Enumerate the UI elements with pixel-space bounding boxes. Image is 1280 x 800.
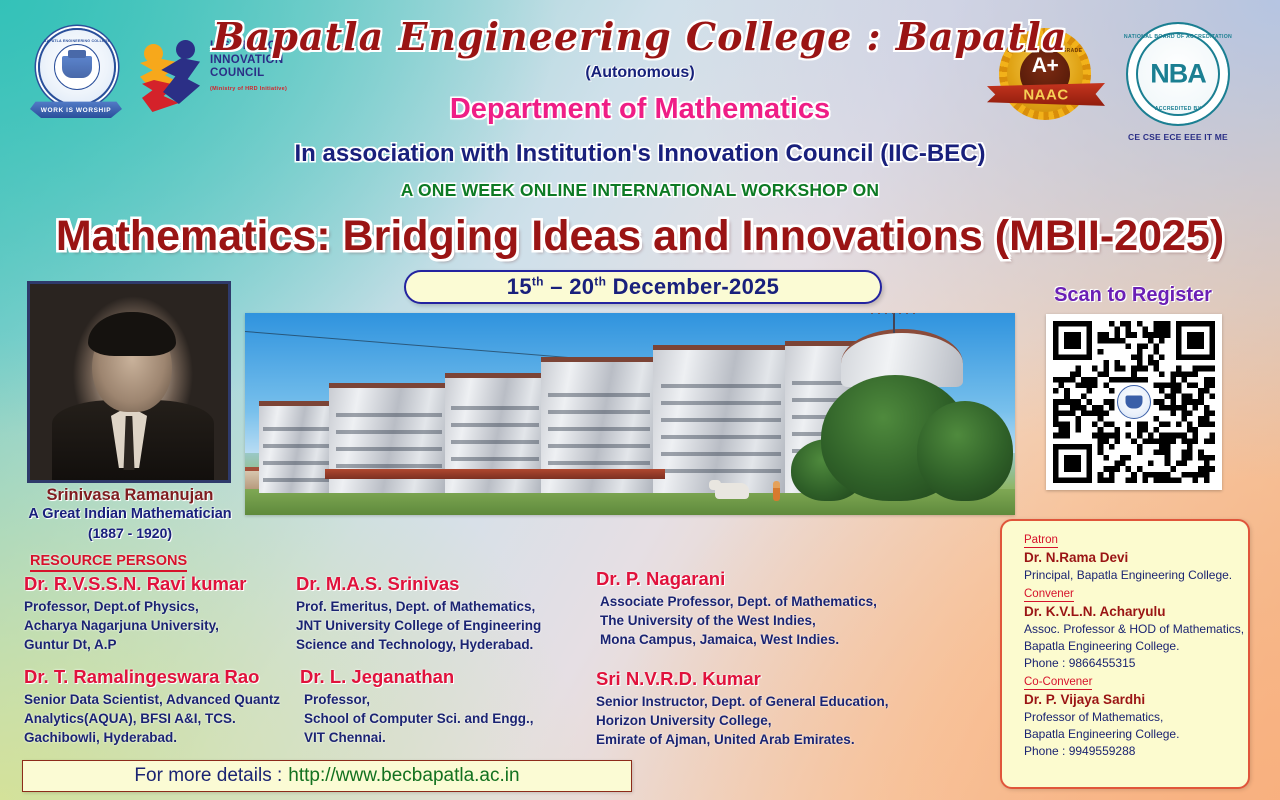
ramanujan-name: Srinivasa Ramanujan xyxy=(10,486,250,505)
campus-photo xyxy=(245,313,1015,515)
organizing-committee-box: Patron Dr. N.Rama Devi Principal, Bapatl… xyxy=(1000,519,1250,789)
organizer-patron: Patron Dr. N.Rama Devi Principal, Bapatl… xyxy=(1024,530,1248,584)
photo-building-1 xyxy=(259,401,333,493)
resource-person-name: Dr. M.A.S. Srinivas xyxy=(296,573,541,595)
ramanujan-caption: Srinivasa Ramanujan A Great Indian Mathe… xyxy=(10,486,250,541)
college-website-url[interactable]: http://www.becbapatla.ac.in xyxy=(288,765,519,787)
organizer-phone: Phone : 9866455315 xyxy=(1024,655,1248,672)
resource-person-name: Dr. P. Nagarani xyxy=(596,568,877,590)
resource-person-6: Sri N.V.R.D. Kumar Senior Instructor, De… xyxy=(596,668,889,749)
resource-person-line: Senior Instructor, Dept. of General Educ… xyxy=(596,692,889,711)
resource-person-line: Professor, Dept.of Physics, xyxy=(24,597,246,616)
resource-person-2: Dr. T. Ramalingeswara Rao Senior Data Sc… xyxy=(24,666,280,747)
poster-canvas: BAPATLA ENGINEERING COLLEGE WORK IS WORS… xyxy=(0,0,1280,800)
event-date-text: 15th – 20th December-2025 xyxy=(507,274,779,300)
resource-person-line: The University of the West Indies, xyxy=(596,611,877,630)
ramanujan-photo xyxy=(30,284,228,480)
organizer-line: Principal, Bapatla Engineering College. xyxy=(1024,567,1248,584)
resource-person-name: Dr. L. Jeganathan xyxy=(300,666,534,688)
photo-person xyxy=(773,481,780,501)
photo-antenna xyxy=(893,313,895,333)
resource-person-1: Dr. R.V.S.S.N. Ravi kumar Professor, Dep… xyxy=(24,573,246,654)
date-day-to-suffix: th xyxy=(594,275,606,289)
organizer-line: Assoc. Professor & HOD of Mathematics, xyxy=(1024,621,1248,638)
photo-building-5 xyxy=(653,345,789,493)
event-date-pill: 15th – 20th December-2025 xyxy=(404,270,882,304)
resource-person-line: School of Computer Sci. and Engg., xyxy=(300,709,534,728)
organizer-co-convener: Co-Convener Dr. P. Vijaya Sardhi Profess… xyxy=(1024,672,1248,760)
resource-person-name: Dr. T. Ramalingeswara Rao xyxy=(24,666,280,688)
organizer-line: Bapatla Engineering College. xyxy=(1024,638,1248,655)
event-kind-line: A ONE WEEK ONLINE INTERNATIONAL WORKSHOP… xyxy=(0,180,1280,201)
autonomous-label: (Autonomous) xyxy=(0,64,1280,82)
resource-person-line: Mona Campus, Jamaica, West Indies. xyxy=(596,630,877,649)
scan-to-register-label: Scan to Register xyxy=(1028,284,1238,307)
association-line: In association with Institution's Innova… xyxy=(0,140,1280,168)
ramanujan-portrait-frame xyxy=(27,281,231,483)
ramanujan-years: (1887 - 1920) xyxy=(10,525,250,541)
resource-person-line: Prof. Emeritus, Dept. of Mathematics, xyxy=(296,597,541,616)
resource-person-name: Dr. R.V.S.S.N. Ravi kumar xyxy=(24,573,246,595)
organizer-name: Dr. N.Rama Devi xyxy=(1024,549,1248,567)
organizer-phone: Phone : 9949559288 xyxy=(1024,743,1248,760)
more-details-label: For more details : xyxy=(134,765,282,787)
registration-qr-code[interactable] xyxy=(1046,314,1222,490)
workshop-main-title: Mathematics: Bridging Ideas and Innovati… xyxy=(0,212,1280,261)
college-title: Bapatla Engineering College : Bapatla xyxy=(0,14,1280,59)
resource-person-line: Professor, xyxy=(300,690,534,709)
organizer-name: Dr. K.V.L.N. Acharyulu xyxy=(1024,603,1248,621)
date-day-to: 20 xyxy=(569,274,594,299)
organizer-role: Co-Convener xyxy=(1024,675,1092,690)
date-day-from: 15 xyxy=(507,274,532,299)
organizer-convener: Convener Dr. K.V.L.N. Acharyulu Assoc. P… xyxy=(1024,584,1248,672)
qr-center-college-logo-icon xyxy=(1117,385,1151,419)
resource-person-line: Senior Data Scientist, Advanced Quantz xyxy=(24,690,280,709)
resource-person-3: Dr. M.A.S. Srinivas Prof. Emeritus, Dept… xyxy=(296,573,541,654)
resource-persons-heading: RESOURCE PERSONS xyxy=(30,553,187,572)
more-details-bar: For more details : http://www.becbapatla… xyxy=(22,760,632,792)
resource-person-line: JNT University College of Engineering xyxy=(296,616,541,635)
resource-person-4: Dr. L. Jeganathan Professor, School of C… xyxy=(300,666,534,747)
resource-person-line: VIT Chennai. xyxy=(300,728,534,747)
resource-person-line: Horizon University College, xyxy=(596,711,889,730)
date-dash: – xyxy=(550,274,563,299)
date-day-from-suffix: th xyxy=(532,275,544,289)
photo-tree-2 xyxy=(917,401,1013,501)
photo-portico-roof xyxy=(325,469,665,479)
resource-person-line: Associate Professor, Dept. of Mathematic… xyxy=(596,592,877,611)
resource-person-line: Analytics(AQUA), BFSI A&I, TCS. xyxy=(24,709,280,728)
organizer-line: Professor of Mathematics, xyxy=(1024,709,1248,726)
resource-person-line: Acharya Nagarjuna University, xyxy=(24,616,246,635)
resource-person-line: Science and Technology, Hyderabad. xyxy=(296,635,541,654)
organizer-name: Dr. P. Vijaya Sardhi xyxy=(1024,691,1248,709)
resource-person-5: Dr. P. Nagarani Associate Professor, Dep… xyxy=(596,568,877,649)
ramanujan-subtitle: A Great Indian Mathematician xyxy=(10,506,250,522)
organizer-role: Patron xyxy=(1024,533,1058,548)
date-month-year: December-2025 xyxy=(613,274,780,299)
department-title: Department of Mathematics xyxy=(0,93,1280,126)
resource-person-name: Sri N.V.R.D. Kumar xyxy=(596,668,889,690)
organizer-role: Convener xyxy=(1024,587,1074,602)
ramanujan-hair xyxy=(88,312,176,356)
resource-person-line: Guntur Dt, A.P xyxy=(24,635,246,654)
resource-person-line: Emirate of Ajman, United Arab Emirates. xyxy=(596,730,889,749)
organizer-line: Bapatla Engineering College. xyxy=(1024,726,1248,743)
photo-cow xyxy=(715,483,749,499)
resource-person-line: Gachibowli, Hyderabad. xyxy=(24,728,280,747)
